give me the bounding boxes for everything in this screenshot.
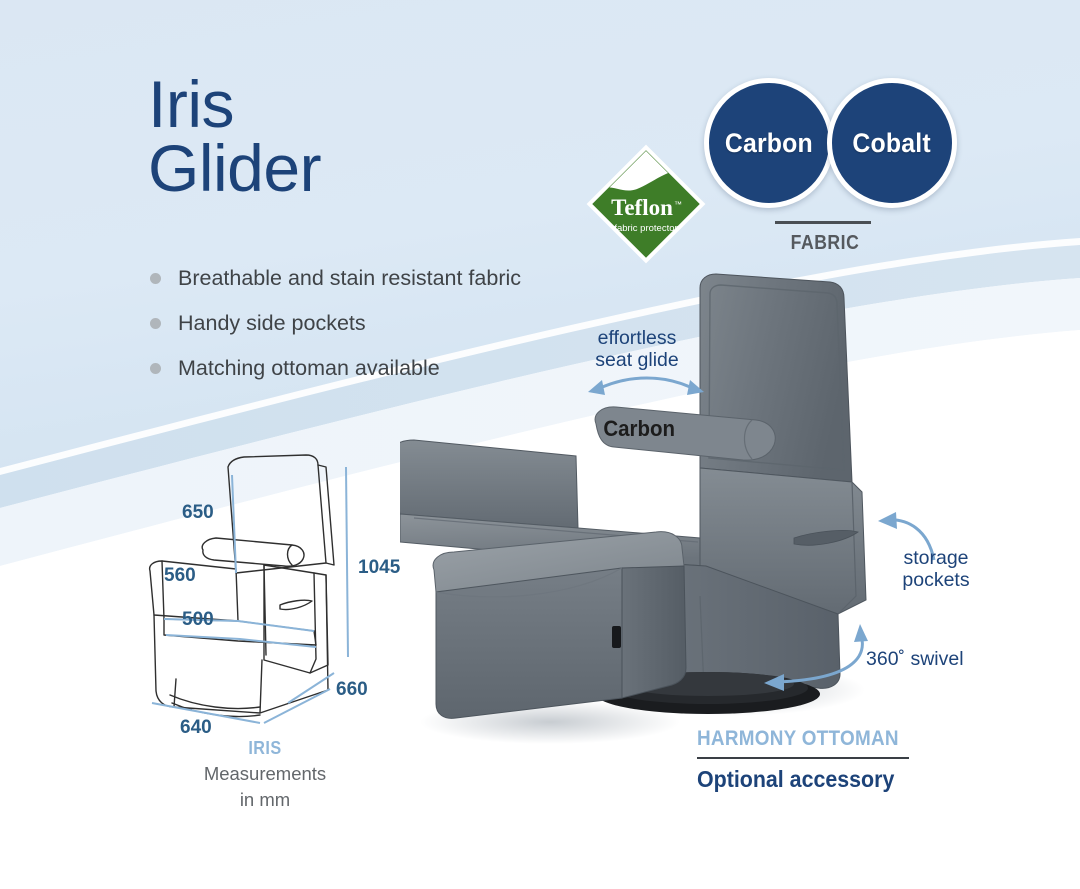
ottoman-note: Optional accessory (697, 766, 911, 793)
teflon-logo-icon: Teflon ™ fabric protector (585, 143, 707, 265)
callout-colour-shown: Carbon (588, 418, 690, 440)
ottoman-divider (697, 757, 909, 759)
bullet-dot-icon (150, 318, 161, 329)
product-title-line1: Iris (148, 67, 234, 141)
dimension-total-depth: 660 (336, 679, 368, 700)
callout-seat-glide-line2: seat glide (595, 349, 678, 371)
product-title-line2: Glider (148, 136, 321, 200)
callout-seat-glide: effortless seat glide (563, 327, 711, 371)
callout-storage-line2: pockets (902, 569, 969, 591)
feature-label: Handy side pockets (178, 311, 366, 336)
dimension-caption-name: IRIS (135, 738, 396, 759)
dimension-back-height: 650 (182, 502, 214, 523)
callout-swivel: 360˚ swivel (866, 648, 996, 670)
callout-seat-glide-line1: effortless (598, 327, 677, 349)
dimension-diagram: 650 560 500 1045 660 640 (140, 445, 430, 735)
ottoman-caption: HARMONY OTTOMAN Optional accessory (697, 727, 927, 793)
dimension-total-height: 1045 (358, 557, 401, 578)
infographic-canvas: Iris Glider Breathable and stain resista… (0, 0, 1080, 889)
dimension-seat-depth: 500 (182, 609, 214, 630)
dimension-caption-line2: in mm (120, 788, 410, 811)
fabric-option-cobalt[interactable]: Cobalt (827, 78, 957, 208)
dimension-caption: IRIS Measurements in mm (120, 738, 410, 811)
fabric-divider (775, 221, 871, 224)
dimension-total-width: 640 (180, 717, 212, 735)
teflon-tagline-text: fabric protector (614, 223, 677, 234)
fabric-option-label: Carbon (725, 128, 813, 159)
callout-storage-line1: storage (903, 547, 968, 569)
dimension-caption-line1: Measurements (120, 762, 410, 785)
fabric-option-label: Cobalt (853, 128, 931, 159)
teflon-brand-text: Teflon (611, 195, 673, 220)
bullet-dot-icon (150, 363, 161, 374)
teflon-trademark-text: ™ (674, 200, 682, 209)
bullet-dot-icon (150, 273, 161, 284)
callout-storage-pockets: storage pockets (880, 547, 992, 591)
page-title: Iris Glider (148, 72, 321, 200)
dimension-seat-width: 560 (164, 565, 196, 586)
fabric-section-label: FABRIC (750, 232, 900, 255)
ottoman-name: HARMONY OTTOMAN (697, 727, 904, 751)
fabric-option-carbon[interactable]: Carbon (704, 78, 834, 208)
